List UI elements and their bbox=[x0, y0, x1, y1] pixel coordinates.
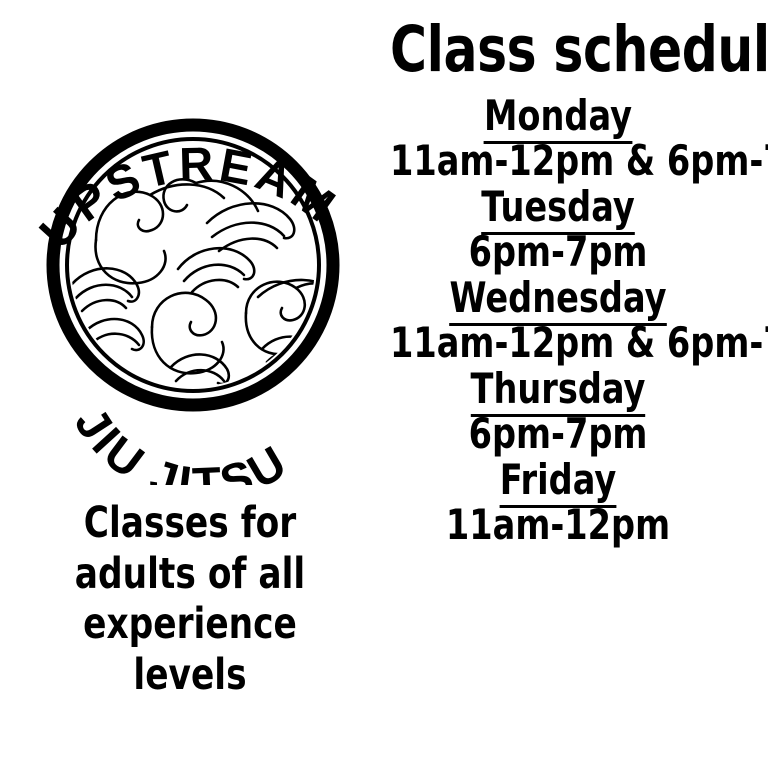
schedule-time-value: 11am-12pm & 6pm-7pm bbox=[390, 320, 726, 366]
logo-arc-text-upstream: UPSTREAM bbox=[29, 137, 348, 259]
schedule-day-label: Friday bbox=[390, 459, 726, 502]
schedule-entry-monday: Monday 11am-12pm & 6pm-7pm bbox=[348, 95, 768, 184]
upstream-jiu-jitsu-logo-icon: UPSTREAM JIU JITSU bbox=[0, 55, 400, 485]
logo-block: UPSTREAM JIU JITSU bbox=[0, 55, 400, 485]
schedule-day-label: Thursday bbox=[390, 368, 726, 411]
class-schedule-poster: UPSTREAM JIU JITSU Class schedule Monday… bbox=[0, 0, 768, 768]
schedule-time-value: 6pm-7pm bbox=[390, 229, 726, 275]
schedule-entry-wednesday: Wednesday 11am-12pm & 6pm-7pm bbox=[348, 277, 768, 366]
tagline-line: levels bbox=[62, 650, 318, 701]
tagline-line: Classes for bbox=[62, 498, 318, 549]
schedule-time-value: 11am-12pm bbox=[390, 502, 726, 548]
schedule-entry-thursday: Thursday 6pm-7pm bbox=[348, 368, 768, 457]
page-title: Class schedule bbox=[390, 18, 726, 81]
svg-text:UPSTREAM: UPSTREAM bbox=[29, 137, 348, 259]
tagline-line: experience bbox=[62, 599, 318, 650]
tagline-block: Classes for adults of all experience lev… bbox=[62, 498, 318, 701]
schedule-day-label: Wednesday bbox=[390, 277, 726, 320]
schedule-time-value: 11am-12pm & 6pm-7pm bbox=[390, 138, 726, 184]
schedule-entry-tuesday: Tuesday 6pm-7pm bbox=[348, 186, 768, 275]
schedule-column: Class schedule Monday 11am-12pm & 6pm-7p… bbox=[348, 18, 768, 550]
schedule-entry-friday: Friday 11am-12pm bbox=[348, 459, 768, 548]
tagline-line: adults of all bbox=[62, 549, 318, 600]
schedule-day-label: Tuesday bbox=[390, 186, 726, 229]
schedule-day-label: Monday bbox=[390, 95, 726, 138]
schedule-time-value: 6pm-7pm bbox=[390, 411, 726, 457]
